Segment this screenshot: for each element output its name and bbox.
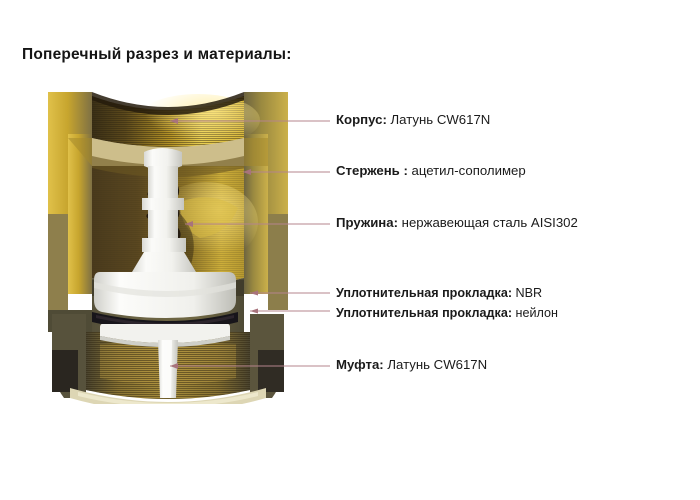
callout-spring: Пружина: нержавеющая сталь AISI302: [336, 215, 578, 231]
callout-gasket-nbr-key: Уплотнительная прокладка:: [336, 286, 512, 300]
callout-stem: Стержень : ацетил-сополимер: [336, 163, 526, 179]
callout-gasket-nylon: Уплотнительная прокладка: нейлон: [336, 306, 558, 321]
callout-body-value: Латунь CW617N: [387, 112, 490, 127]
callout-spring-key: Пружина:: [336, 215, 398, 230]
callout-gasket-nylon-key: Уплотнительная прокладка:: [336, 306, 512, 320]
callout-spring-value: нержавеющая сталь AISI302: [398, 215, 578, 230]
valve-cross-section-image: [30, 82, 320, 404]
callout-gasket-nbr-value: NBR: [512, 286, 542, 300]
callout-stem-value: ацетил-сополимер: [408, 163, 526, 178]
callout-stem-key: Стержень :: [336, 163, 408, 178]
callout-body: Корпус: Латунь CW617N: [336, 112, 490, 128]
valve-cross-section-figure: [30, 82, 320, 404]
page-title: Поперечный разрез и материалы:: [22, 46, 292, 64]
callout-coupling-key: Муфта:: [336, 357, 384, 372]
callout-gasket-nbr: Уплотнительная прокладка: NBR: [336, 286, 542, 301]
callout-gasket-nylon-value: нейлон: [512, 306, 558, 320]
callout-coupling-value: Латунь CW617N: [384, 357, 487, 372]
callout-body-key: Корпус:: [336, 112, 387, 127]
callout-coupling: Муфта: Латунь CW617N: [336, 357, 487, 373]
